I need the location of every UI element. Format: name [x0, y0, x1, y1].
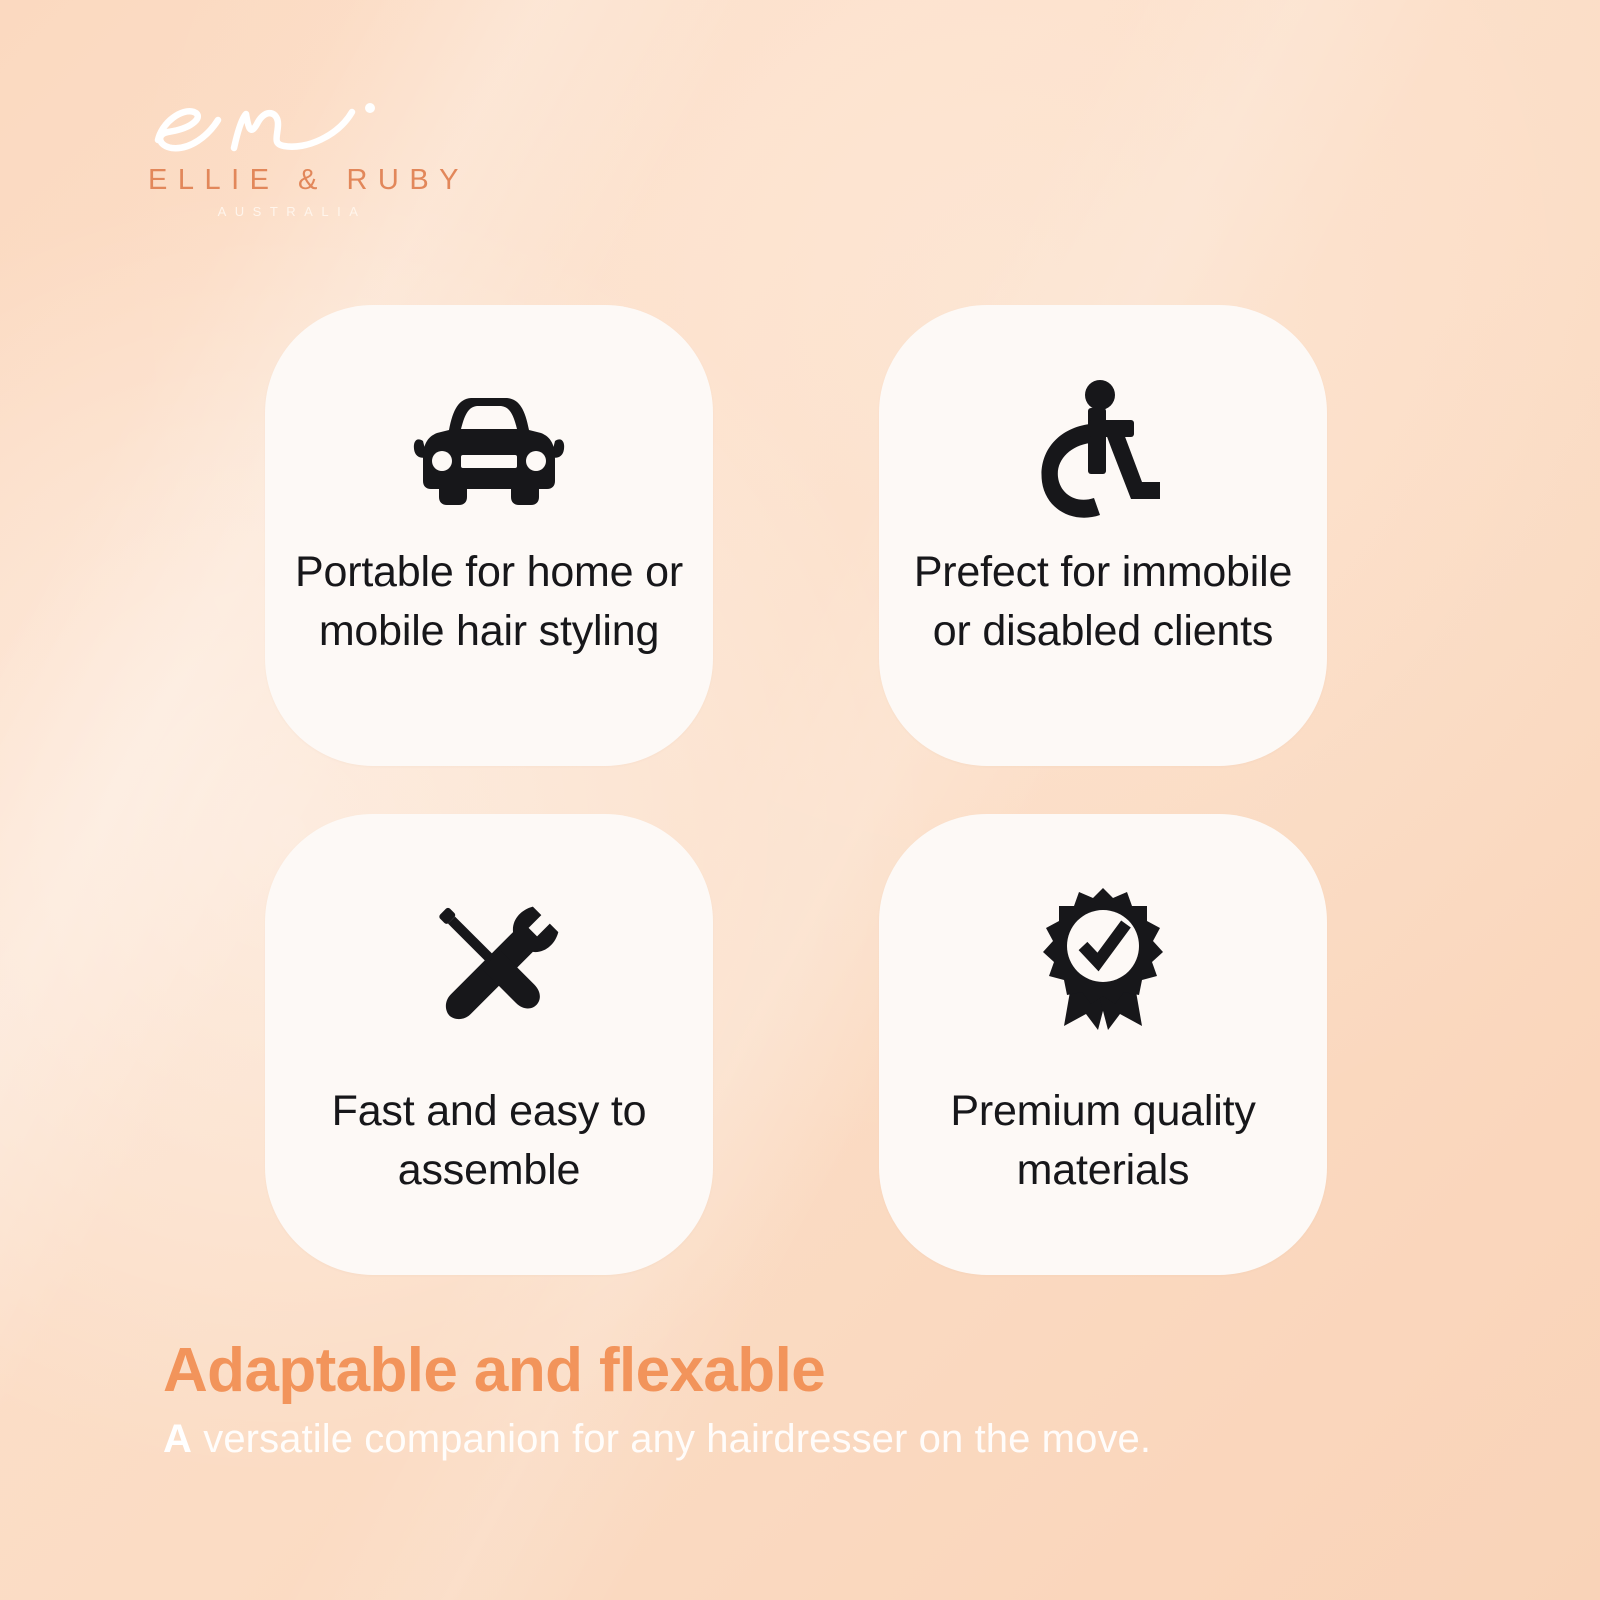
footer-headline: Adaptable and flexable	[163, 1338, 1463, 1403]
wrench-screwdriver-tools-icon	[417, 874, 562, 1044]
logo-dot-icon	[365, 103, 375, 113]
promo-graphic: ELLIE & RUBY AUSTRALIA Portable	[0, 0, 1600, 1600]
feature-card-assembly[interactable]: Fast and easy to assemble	[265, 814, 713, 1275]
feature-label: Prefect for immobile or disabled clients	[897, 543, 1309, 662]
wheelchair-accessible-icon	[1028, 365, 1178, 535]
feature-card-grid: Portable for home or mobile hair styling…	[265, 305, 1347, 1275]
feature-card-accessible[interactable]: Prefect for immobile or disabled clients	[879, 305, 1327, 766]
footer-subtitle: A versatile companion for any hairdresse…	[163, 1417, 1463, 1461]
feature-label: Premium quality materials	[897, 1082, 1309, 1201]
footer-copy: Adaptable and flexable A versatile compa…	[163, 1338, 1463, 1461]
car-front-icon	[409, 365, 569, 535]
footer-subtitle-lead: A	[163, 1417, 192, 1461]
feature-label: Fast and easy to assemble	[283, 1082, 695, 1201]
brand-logo: ELLIE & RUBY AUSTRALIA	[138, 92, 438, 218]
brand-name: ELLIE & RUBY	[138, 166, 438, 195]
er-script-monogram-icon	[138, 92, 438, 164]
feature-card-portable[interactable]: Portable for home or mobile hair styling	[265, 305, 713, 766]
award-badge-check-icon	[1028, 874, 1178, 1044]
footer-subtitle-rest: versatile companion for any hairdresser …	[192, 1417, 1151, 1461]
feature-label: Portable for home or mobile hair styling	[283, 543, 695, 662]
brand-tagline: AUSTRALIA	[138, 205, 438, 218]
feature-card-quality[interactable]: Premium quality materials	[879, 814, 1327, 1275]
